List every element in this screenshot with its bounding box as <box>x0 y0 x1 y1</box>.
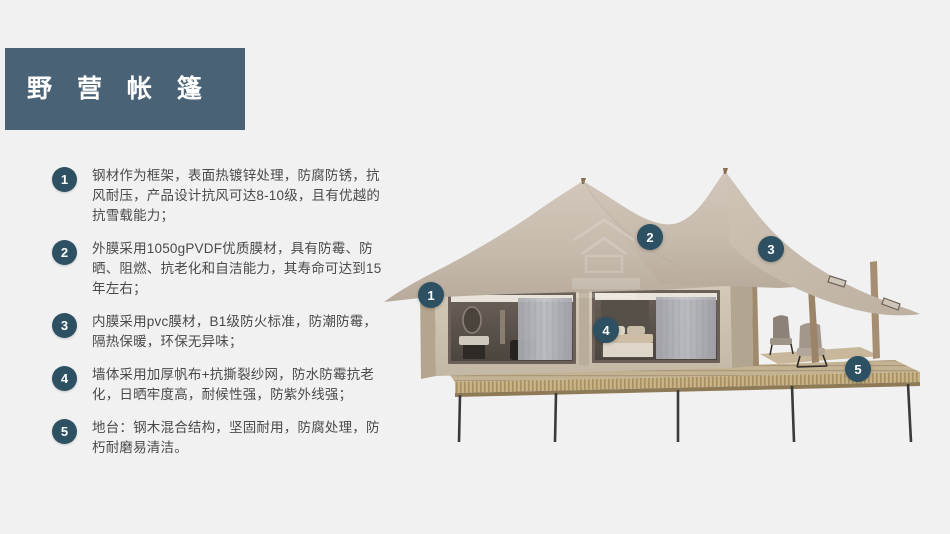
feature-text-5: 地台：钢木混合结构，坚固耐用，防腐处理，防朽耐磨易清洁。 <box>92 418 382 458</box>
callout-marker-5[interactable]: 5 <box>845 356 871 382</box>
feature-text-3: 内膜采用pvc膜材，B1级防火标准，防潮防霉，隔热保暖，环保无异味； <box>92 312 382 352</box>
callout-marker-3[interactable]: 3 <box>758 236 784 262</box>
feature-badge-5: 5 <box>52 419 77 444</box>
slide-canvas: 野 营 帐 篷 1 钢材作为框架，表面热镀锌处理，防腐防锈，抗风耐压，产品设计抗… <box>0 0 950 534</box>
roof-peak-finials <box>581 168 728 184</box>
callout-marker-4[interactable]: 4 <box>593 317 619 343</box>
callout-marker-1[interactable]: 1 <box>418 282 444 308</box>
feature-badge-2: 2 <box>52 240 77 265</box>
feature-text-4: 墙体采用加厚帆布+抗撕裂纱网，防水防霉抗老化，日晒牢度高，耐候性强，防紫外线强； <box>92 365 382 405</box>
page-title: 野 营 帐 篷 <box>27 77 211 102</box>
title-banner: 野 营 帐 篷 <box>5 48 245 130</box>
tent-illustration-svg <box>360 150 950 450</box>
feature-badge-3: 3 <box>52 313 77 338</box>
feature-badge-4: 4 <box>52 366 77 391</box>
feature-text-1: 钢材作为框架，表面热镀锌处理，防腐防锈，抗风耐压，产品设计抗风可达8-10级，且… <box>92 166 382 226</box>
list-item: 5 地台：钢木混合结构，坚固耐用，防腐处理，防朽耐磨易清洁。 <box>52 418 382 458</box>
feature-text-2: 外膜采用1050gPVDF优质膜材，具有防霉、防晒、阻燃、抗老化和自洁能力，其寿… <box>92 239 382 299</box>
feature-list: 1 钢材作为框架，表面热镀锌处理，防腐防锈，抗风耐压，产品设计抗风可达8-10级… <box>52 166 382 471</box>
list-item: 1 钢材作为框架，表面热镀锌处理，防腐防锈，抗风耐压，产品设计抗风可达8-10级… <box>52 166 382 226</box>
feature-badge-1: 1 <box>52 167 77 192</box>
list-item: 4 墙体采用加厚帆布+抗撕裂纱网，防水防霉抗老化，日晒牢度高，耐候性强，防紫外线… <box>52 365 382 405</box>
safari-tent-image <box>360 150 950 450</box>
callout-marker-2[interactable]: 2 <box>637 224 663 250</box>
patio-chair-left <box>770 315 793 355</box>
wall-divider <box>579 291 589 366</box>
list-item: 2 外膜采用1050gPVDF优质膜材，具有防霉、防晒、阻燃、抗老化和自洁能力，… <box>52 239 382 299</box>
list-item: 3 内膜采用pvc膜材，B1级防火标准，防潮防霉，隔热保暖，环保无异味； <box>52 312 382 352</box>
window-left-bathroom <box>448 292 576 364</box>
